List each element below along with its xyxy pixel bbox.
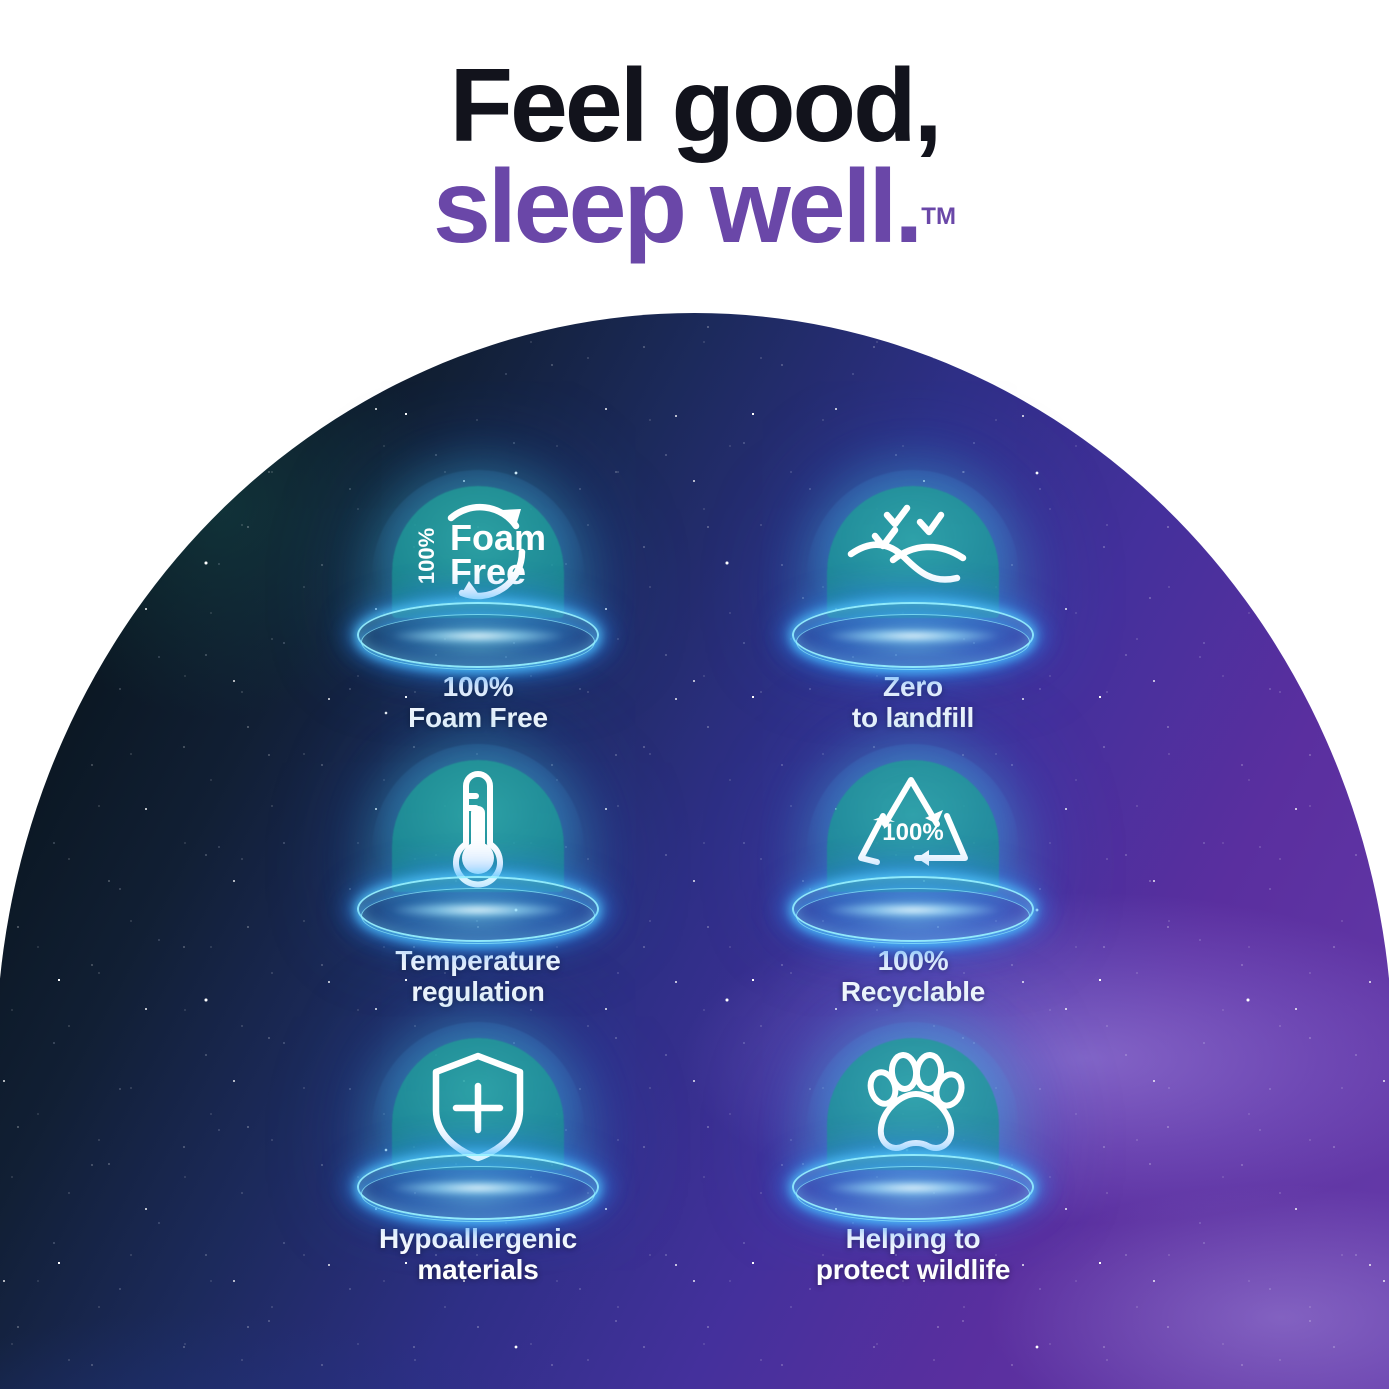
recycle-percent-label: 100% — [882, 819, 943, 846]
feature-item-hypoallergenic[interactable]: Hypoallergenic materials — [313, 1030, 643, 1286]
trademark-mark: TM — [921, 203, 956, 230]
foam-free-icon: 100% Foam Free — [390, 492, 566, 618]
svg-text:Free: Free — [450, 551, 526, 592]
headline-line-2-text: sleep well. — [433, 149, 920, 265]
base-ring-hotspot — [393, 628, 563, 644]
feature-caption: Hypoallergenic materials — [313, 1223, 643, 1286]
starfield-layer-4 — [0, 313, 1389, 1389]
feature-caption: Helping to protect wildlife — [748, 1223, 1078, 1286]
caption-line-2: protect wildlife — [748, 1254, 1078, 1285]
feature-item-recyclable[interactable]: 100% 100% Recyclable — [748, 752, 1078, 1008]
starfield-layer-3 — [0, 313, 1389, 1389]
feature-caption: Zero to landfill — [748, 671, 1078, 734]
icon-podium — [748, 478, 1078, 663]
thermometer-icon — [390, 766, 566, 892]
galaxy-backdrop — [0, 313, 1389, 1389]
caption-line-2: regulation — [313, 976, 643, 1007]
starfield-layer-2 — [0, 313, 1389, 1389]
icon-podium: 100% — [748, 752, 1078, 937]
headline-line-1: Feel good, — [0, 56, 1389, 157]
caption-line-2: materials — [313, 1254, 643, 1285]
icon-podium — [313, 1030, 643, 1215]
feature-item-temperature-regulation[interactable]: Temperature regulation — [313, 752, 643, 1008]
base-ring-hotspot — [393, 1180, 563, 1196]
shield-plus-icon — [390, 1044, 566, 1170]
icon-podium — [748, 1030, 1078, 1215]
feature-item-foam-free[interactable]: 100% Foam Free 100% Foam Free — [313, 478, 643, 734]
caption-line-2: to landfill — [748, 702, 1078, 733]
svg-text:100%: 100% — [414, 528, 439, 584]
base-ring-hotspot — [828, 1180, 998, 1196]
starfield-layer-1 — [0, 313, 1389, 1389]
galaxy-dome-shape — [0, 313, 1389, 1389]
icon-podium: 100% Foam Free — [313, 478, 643, 663]
feature-caption: 100% Recyclable — [748, 945, 1078, 1008]
recycle-icon: 100% — [825, 766, 1001, 892]
headline-line-2: sleep well.TM — [0, 157, 1389, 258]
base-ring-hotspot — [828, 628, 998, 644]
headline-block: Feel good, sleep well.TM — [0, 56, 1389, 258]
birds-over-hills-icon — [825, 492, 1001, 618]
feature-caption: 100% Foam Free — [313, 671, 643, 734]
base-ring-hotspot — [393, 902, 563, 918]
caption-line-2: Foam Free — [313, 702, 643, 733]
paw-print-icon — [825, 1044, 1001, 1170]
feature-item-protect-wildlife[interactable]: Helping to protect wildlife — [748, 1030, 1078, 1286]
caption-line-2: Recyclable — [748, 976, 1078, 1007]
feature-item-zero-to-landfill[interactable]: Zero to landfill — [748, 478, 1078, 734]
feature-caption: Temperature regulation — [313, 945, 643, 1008]
base-ring-hotspot — [828, 902, 998, 918]
icon-podium — [313, 752, 643, 937]
